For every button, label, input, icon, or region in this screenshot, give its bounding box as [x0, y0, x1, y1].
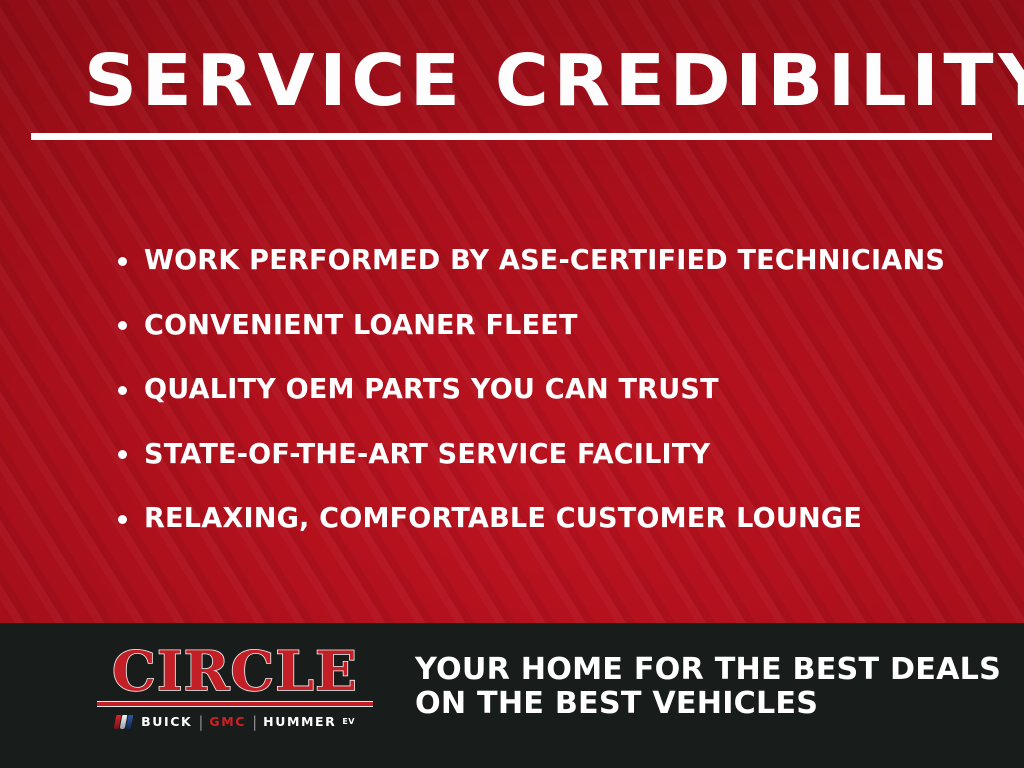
title-underline-rule: [31, 133, 992, 140]
brand-label-hummer: HUMMER: [263, 715, 336, 729]
brand-separator: |: [198, 715, 203, 729]
bullet-dot-icon: [118, 515, 127, 524]
dealer-logo: CIRCLE BUICK | GMC | HUMMER EV: [90, 645, 380, 731]
brand-label-gmc: GMC: [209, 715, 246, 729]
list-item: QUALITY OEM PARTS YOU CAN TRUST: [118, 357, 998, 422]
brand-label-hummer-ev-suffix: EV: [342, 715, 354, 729]
list-item: RELAXING, COMFORTABLE CUSTOMER LOUNGE: [118, 486, 998, 551]
list-item-label: STATE-OF-THE-ART SERVICE FACILITY: [144, 438, 710, 470]
brand-separator: |: [252, 715, 257, 729]
footer-tagline: YOUR HOME FOR THE BEST DEALS ON THE BEST…: [415, 653, 989, 721]
footer-tagline-line-1: YOUR HOME FOR THE BEST DEALS: [415, 653, 989, 687]
presentation-slide: SERVICE CREDIBILITY WORK PERFORMED BY AS…: [0, 0, 1024, 768]
list-item-label: WORK PERFORMED BY ASE-CERTIFIED TECHNICI…: [144, 244, 945, 276]
feature-bullet-list: WORK PERFORMED BY ASE-CERTIFIED TECHNICI…: [118, 228, 998, 551]
buick-tri-shield-icon: [115, 715, 132, 729]
list-item-label: RELAXING, COMFORTABLE CUSTOMER LOUNGE: [144, 502, 862, 534]
brand-label-buick: BUICK: [141, 715, 192, 729]
list-item: STATE-OF-THE-ART SERVICE FACILITY: [118, 422, 998, 487]
list-item: CONVENIENT LOANER FLEET: [118, 293, 998, 358]
brand-lineup: BUICK | GMC | HUMMER EV: [90, 713, 380, 731]
footer-tagline-line-2: ON THE BEST VEHICLES: [415, 687, 989, 721]
dealer-logo-wordmark: CIRCLE: [87, 645, 383, 697]
bullet-dot-icon: [118, 450, 127, 459]
list-item-label: QUALITY OEM PARTS YOU CAN TRUST: [144, 373, 719, 405]
list-item-label: CONVENIENT LOANER FLEET: [144, 309, 578, 341]
bullet-dot-icon: [118, 321, 127, 330]
bullet-dot-icon: [118, 257, 127, 266]
list-item: WORK PERFORMED BY ASE-CERTIFIED TECHNICI…: [118, 228, 998, 293]
page-title: SERVICE CREDIBILITY: [84, 42, 1016, 120]
bullet-dot-icon: [118, 386, 127, 395]
